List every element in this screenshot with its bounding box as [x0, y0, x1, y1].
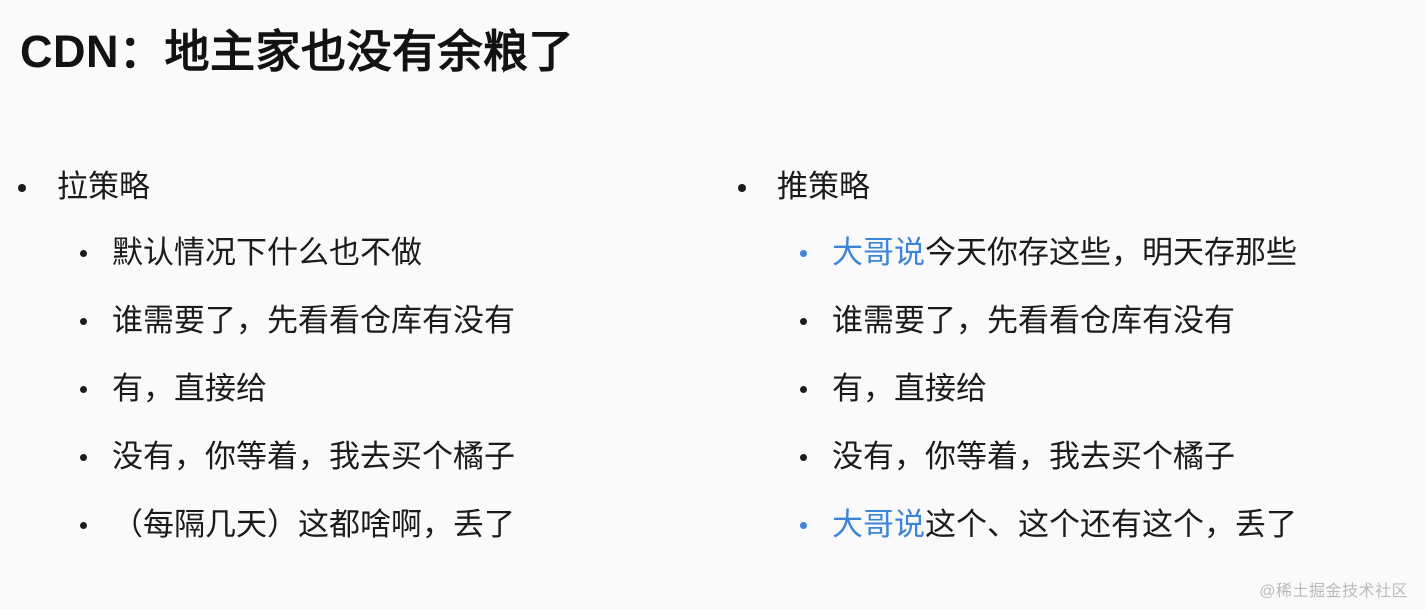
bullet-columns: 拉策略 默认情况下什么也不做 谁需要了，先看看仓库有没有 有，直接给 没有，	[0, 165, 1426, 571]
list-item-label: 有，直接给	[112, 371, 267, 406]
bullet-dot-icon	[738, 184, 746, 192]
column-push-strategy: 推策略 大哥说今天你存这些，明天存那些 谁需要了，先看看仓库有没有 有，直接给	[700, 165, 1420, 571]
list-item-accent: 大哥说	[832, 235, 925, 270]
bullet-list-push: 大哥说今天你存这些，明天存那些 谁需要了，先看看仓库有没有 有，直接给 没有，你…	[720, 231, 1420, 571]
list-item-label: 谁需要了，先看看仓库有没有	[112, 303, 515, 338]
column-heading-label: 拉策略	[57, 169, 150, 204]
bullet-dot-icon	[80, 522, 87, 529]
column-heading-label: 推策略	[777, 169, 870, 204]
list-item: 默认情况下什么也不做	[0, 231, 700, 299]
bullet-dot-icon	[800, 386, 807, 393]
list-item: 没有，你等着，我去买个橘子	[720, 435, 1420, 503]
bullet-dot-icon	[800, 250, 807, 257]
list-item-label: 这个、这个还有这个，丢了	[925, 507, 1297, 542]
list-item-label: 有，直接给	[832, 371, 987, 406]
list-item-label: 今天你存这些，明天存那些	[925, 235, 1297, 270]
bullet-dot-icon	[800, 454, 807, 461]
slide: CDN：地主家也没有余粮了 拉策略 默认情况下什么也不做 谁需要了，先看看仓库有…	[0, 0, 1426, 609]
bullet-dot-icon	[800, 522, 807, 529]
bullet-dot-icon	[800, 318, 807, 325]
list-item: 有，直接给	[0, 367, 700, 435]
list-item: 大哥说这个、这个还有这个，丢了	[720, 503, 1420, 571]
bullet-dot-icon	[18, 184, 26, 192]
bullet-dot-icon	[80, 454, 87, 461]
bullet-dot-icon	[80, 250, 87, 257]
column-pull-strategy: 拉策略 默认情况下什么也不做 谁需要了，先看看仓库有没有 有，直接给 没有，	[0, 165, 700, 571]
list-item-label: 没有，你等着，我去买个橘子	[832, 439, 1235, 474]
list-item: （每隔几天）这都啥啊，丢了	[0, 503, 700, 571]
list-item: 谁需要了，先看看仓库有没有	[0, 299, 700, 367]
list-item-label: （每隔几天）这都啥啊，丢了	[112, 507, 515, 542]
list-item: 大哥说今天你存这些，明天存那些	[720, 231, 1420, 299]
list-item-accent: 大哥说	[832, 507, 925, 542]
bullet-list-pull: 默认情况下什么也不做 谁需要了，先看看仓库有没有 有，直接给 没有，你等着，我去…	[0, 231, 700, 571]
list-item-label: 没有，你等着，我去买个橘子	[112, 439, 515, 474]
bullet-dot-icon	[80, 386, 87, 393]
list-item: 没有，你等着，我去买个橘子	[0, 435, 700, 503]
list-item-label: 默认情况下什么也不做	[112, 235, 422, 270]
column-heading-push: 推策略	[720, 165, 1420, 209]
list-item: 有，直接给	[720, 367, 1420, 435]
page-title: CDN：地主家也没有余粮了	[20, 24, 574, 80]
list-item: 谁需要了，先看看仓库有没有	[720, 299, 1420, 367]
bullet-dot-icon	[80, 318, 87, 325]
watermark: @稀土掘金技术社区	[1259, 577, 1408, 601]
column-heading-pull: 拉策略	[0, 165, 700, 209]
list-item-label: 谁需要了，先看看仓库有没有	[832, 303, 1235, 338]
